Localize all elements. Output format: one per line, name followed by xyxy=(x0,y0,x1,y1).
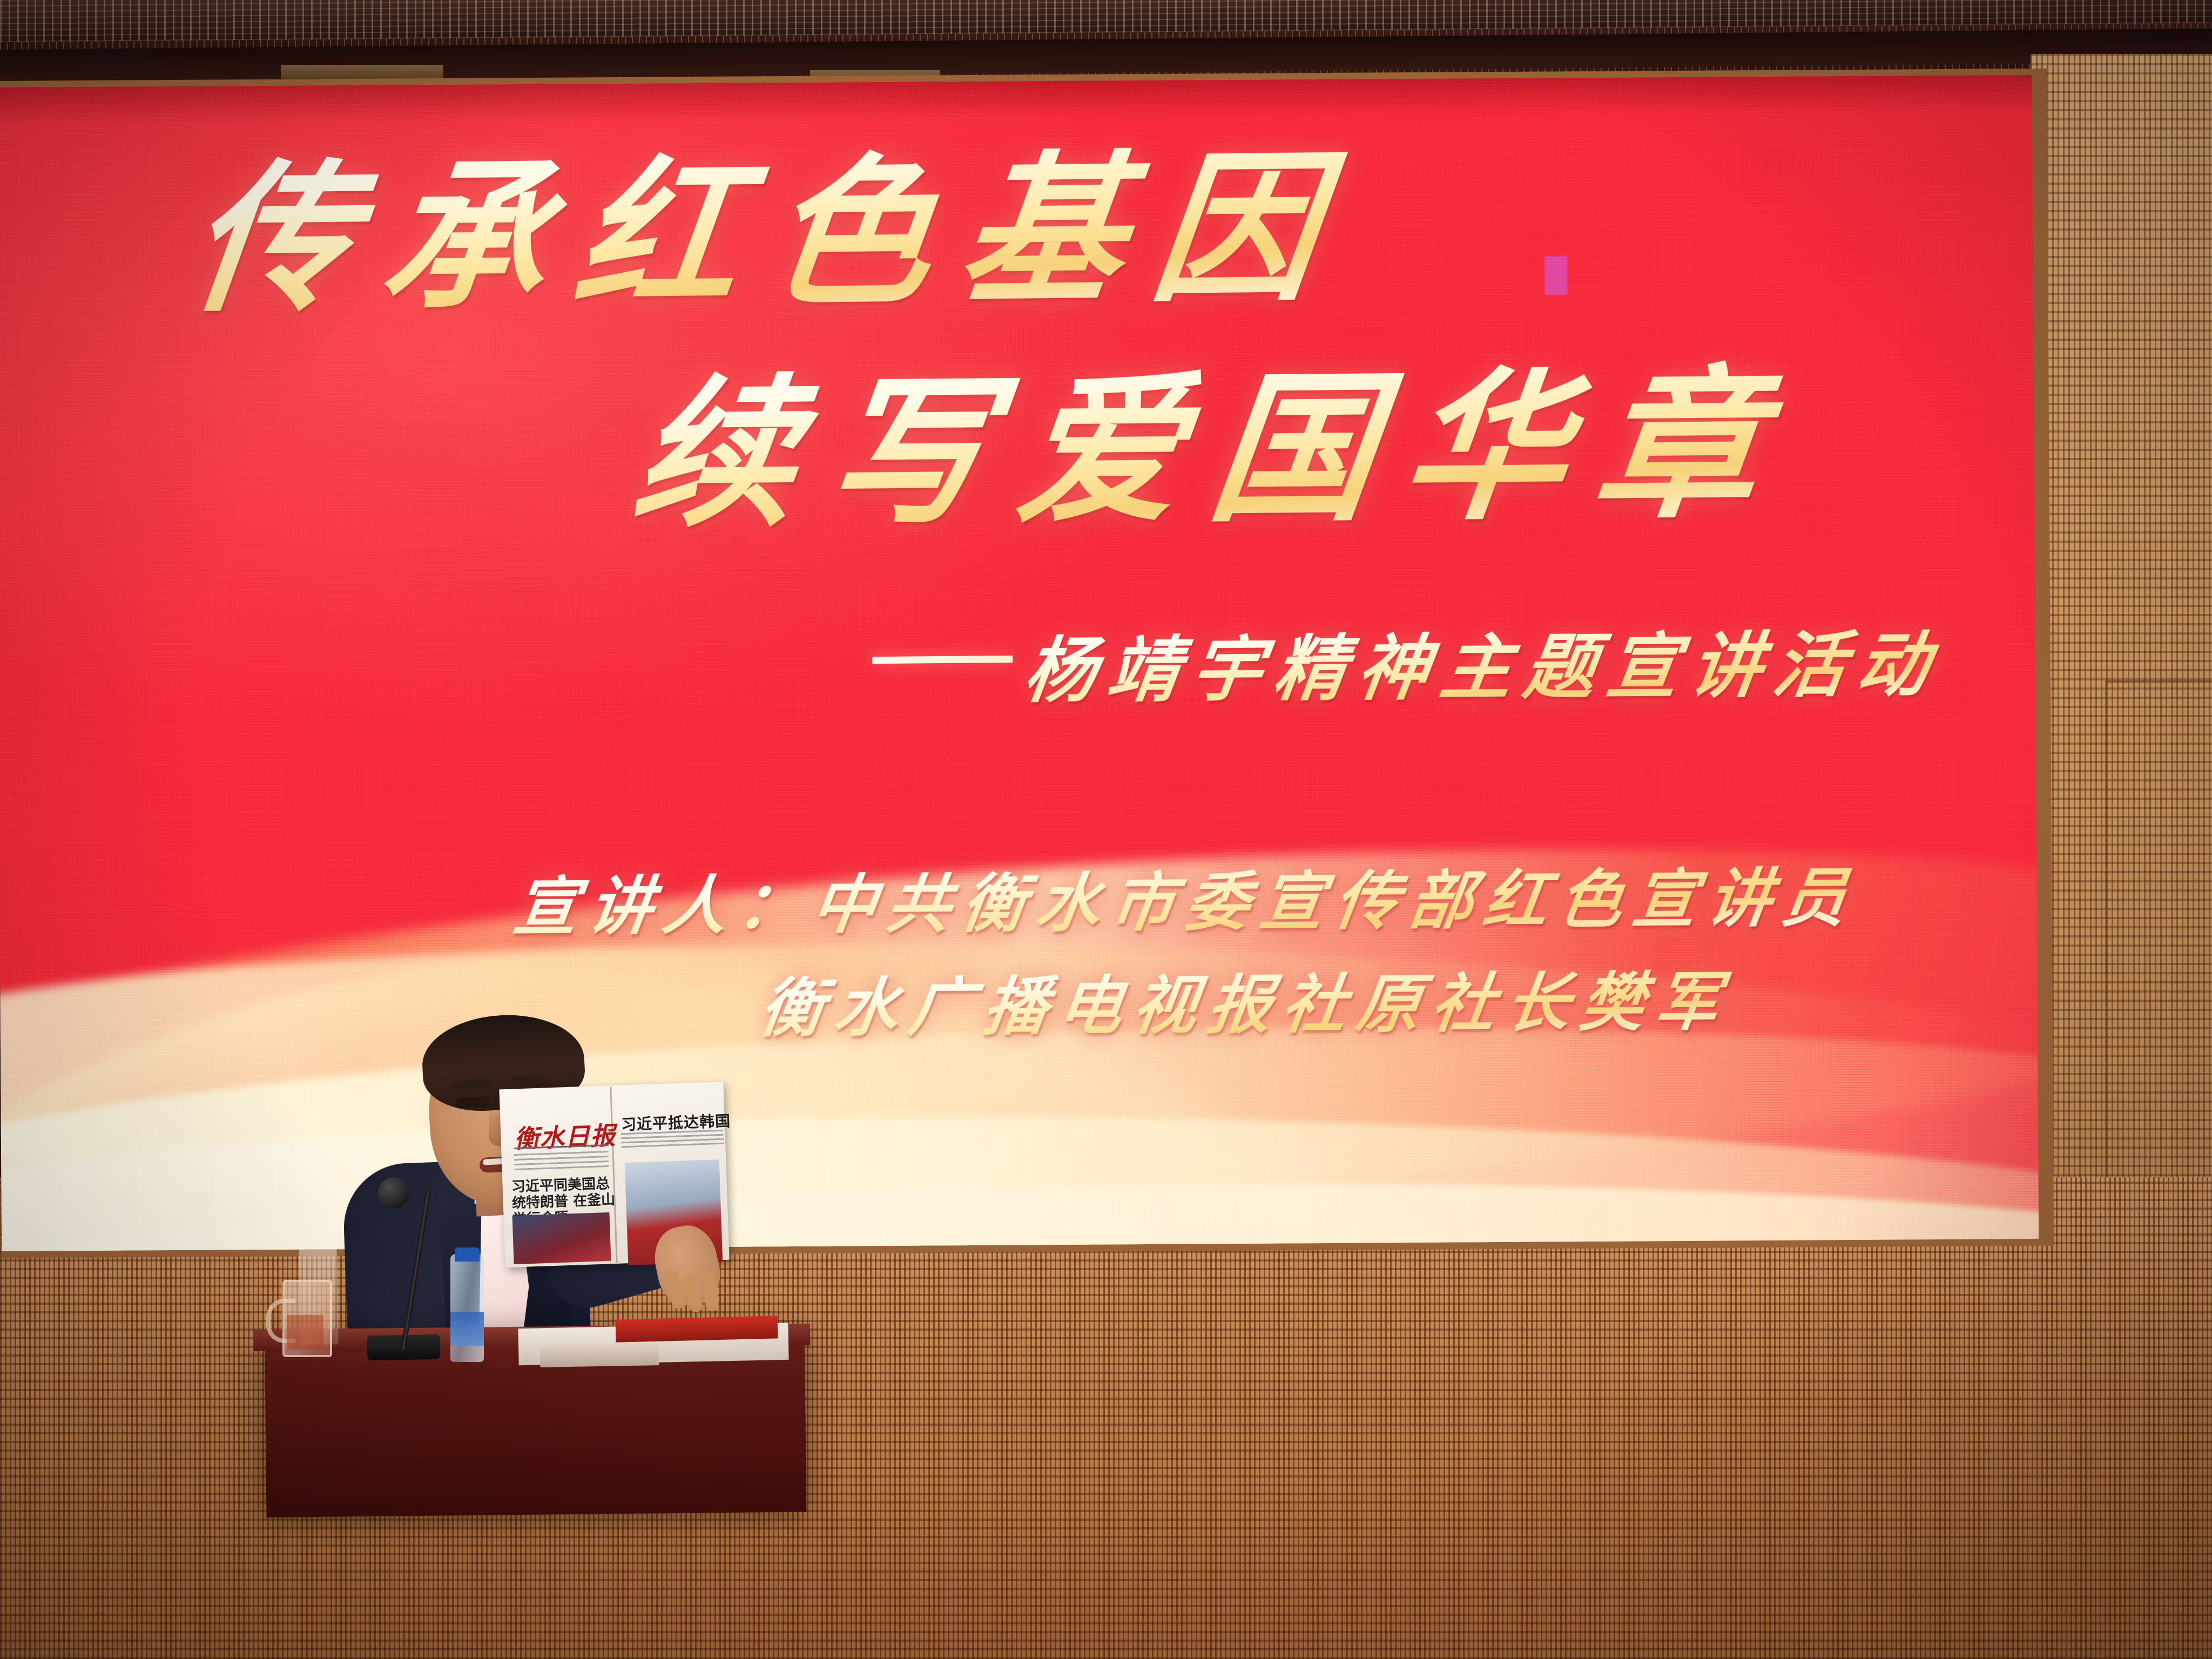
subtitle-dash xyxy=(872,656,1013,664)
ceiling-strip xyxy=(281,65,443,79)
audience xyxy=(0,1285,2212,1659)
wall-seam xyxy=(2105,680,2107,1231)
wall-seam xyxy=(2106,680,2212,683)
screen-speaker-line-1: 宣讲人：中共衡水市委宣传部红色宣讲员 xyxy=(509,846,1864,947)
microphone-icon xyxy=(378,1177,409,1209)
screen-subtitle: 杨靖宇精神主题宣讲活动 xyxy=(1019,607,1948,717)
screen-title-line-2: 续写爱国华章 xyxy=(623,314,1805,558)
wall-panel-right xyxy=(2031,54,2212,1231)
screen-speaker-line-2: 衡水广播电视报社原社长樊军 xyxy=(755,950,1737,1049)
photo-scene: 传承红色基因 续写爱国华章 杨靖宇精神主题宣讲活动 宣讲人：中共衡水市委宣传部红… xyxy=(0,0,2212,1659)
water-bottle-cap xyxy=(455,1247,480,1262)
dead-pixel-artifact xyxy=(1545,256,1567,295)
newspaper-text-block xyxy=(514,1149,609,1170)
newspaper-photo xyxy=(512,1212,611,1264)
screen-title-line-1: 传承红色基因 xyxy=(180,97,1361,343)
